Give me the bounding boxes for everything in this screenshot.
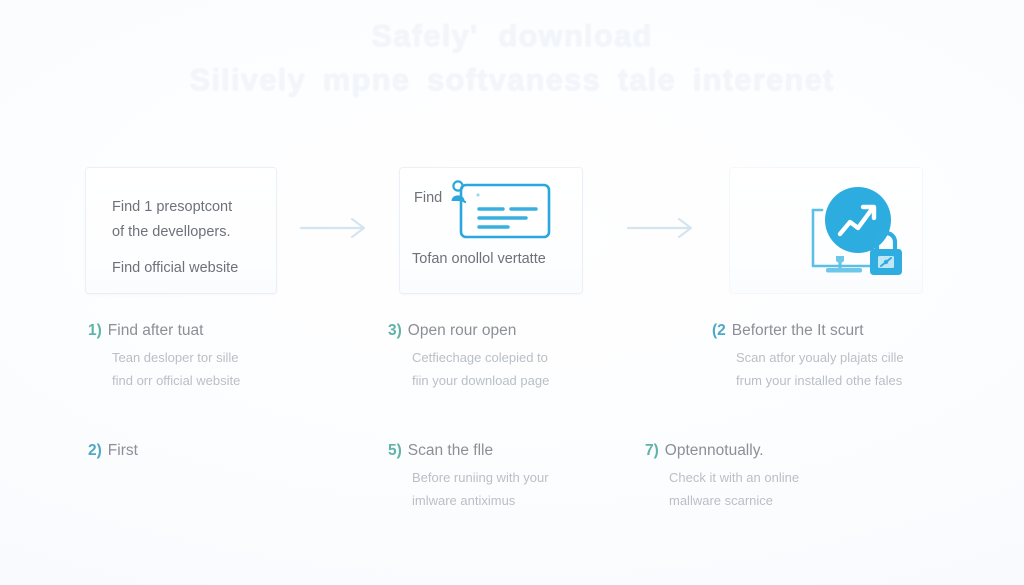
- step-5-heading-row: 5)Scan the flle: [388, 440, 549, 462]
- step-1-sub-line-2: find orr official website: [112, 369, 240, 392]
- step-5-sub-line-1: Before runiing with your: [412, 466, 549, 489]
- step-2-number: 2): [88, 442, 102, 459]
- step-item-1: 1)Find after tuat Tean desloper tor sill…: [88, 320, 240, 392]
- step-2col3-heading-row: (2Beforter the It scurt: [712, 320, 904, 342]
- step-1-sub-line-1: Tean desloper tor sille: [112, 346, 240, 369]
- step-item-7: 7)Optennotually. Check it with an online…: [645, 440, 799, 512]
- step-3-number: 3): [388, 322, 402, 339]
- step-1-sub: Tean desloper tor sille find orr officia…: [88, 346, 240, 392]
- step-2col3-sub-line-2: frum your installed othe fales: [736, 369, 904, 392]
- step-item-2: 2)First: [88, 440, 138, 462]
- step-7-sub-line-2: mallware scarnice: [669, 489, 799, 512]
- step-3-heading: Open rour open: [408, 322, 517, 339]
- step-3-sub-line-2: fiin your download page: [412, 369, 549, 392]
- step-7-sub-line-1: Check it with an online: [669, 466, 799, 489]
- step-5-sub: Before runiing with your imlware antixim…: [388, 466, 549, 512]
- step-item-5: 5)Scan the flle Before runiing with your…: [388, 440, 549, 512]
- step-2col3-sub-line-1: Scan atfor youaly plajats cille: [736, 346, 904, 369]
- step-3-sub: Cetfiechage colepied to fiin your downlo…: [388, 346, 549, 392]
- step-3-sub-line-1: Cetfiechage colepied to: [412, 346, 549, 369]
- step-2col3-heading: Beforter the It scurt: [732, 322, 864, 339]
- step-1-heading: Find after tuat: [108, 322, 204, 339]
- step-item-2-col3: (2Beforter the It scurt Scan atfor youal…: [712, 320, 904, 392]
- steps-list: 1)Find after tuat Tean desloper tor sill…: [0, 0, 1024, 585]
- step-2-heading: First: [108, 442, 138, 459]
- step-2-heading-row: 2)First: [88, 440, 138, 462]
- step-7-number: 7): [645, 442, 659, 459]
- step-7-heading-row: 7)Optennotually.: [645, 440, 799, 462]
- step-7-sub: Check it with an online mallware scarnic…: [645, 466, 799, 512]
- step-2col3-number: (2: [712, 322, 726, 339]
- step-5-number: 5): [388, 442, 402, 459]
- step-item-3: 3)Open rour open Cetfiechage colepied to…: [388, 320, 549, 392]
- step-1-number: 1): [88, 322, 102, 339]
- step-5-heading: Scan the flle: [408, 442, 493, 459]
- step-3-heading-row: 3)Open rour open: [388, 320, 549, 342]
- step-5-sub-line-2: imlware antiximus: [412, 489, 549, 512]
- step-2col3-sub: Scan atfor youaly plajats cille frum you…: [712, 346, 904, 392]
- step-7-heading: Optennotually.: [665, 442, 764, 459]
- infographic-page: Safely' download Silively mpne softvanes…: [0, 0, 1024, 585]
- step-1-heading-row: 1)Find after tuat: [88, 320, 240, 342]
